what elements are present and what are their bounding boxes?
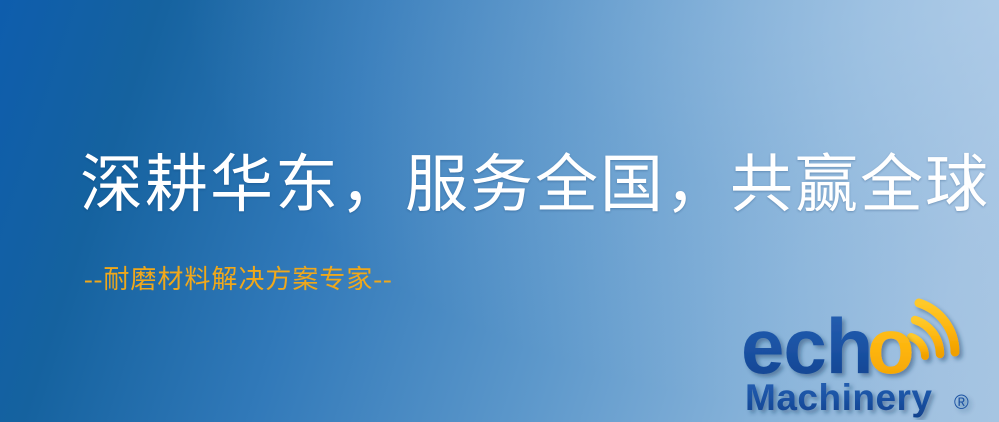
promo-banner: 深耕华东，服务全国，共赢全球 --耐磨材料解决方案专家-- (0, 0, 999, 422)
signal-arcs-icon (911, 303, 955, 356)
echo-machinery-logo[interactable]: ech o Machinery ® (739, 290, 991, 420)
banner-headline: 深耕华东，服务全国，共赢全球 (80, 150, 990, 221)
machinery-tagline: Machinery (745, 377, 933, 418)
banner-subheadline: --耐磨材料解决方案专家-- (84, 264, 393, 295)
registered-trademark-icon: ® (954, 392, 969, 414)
